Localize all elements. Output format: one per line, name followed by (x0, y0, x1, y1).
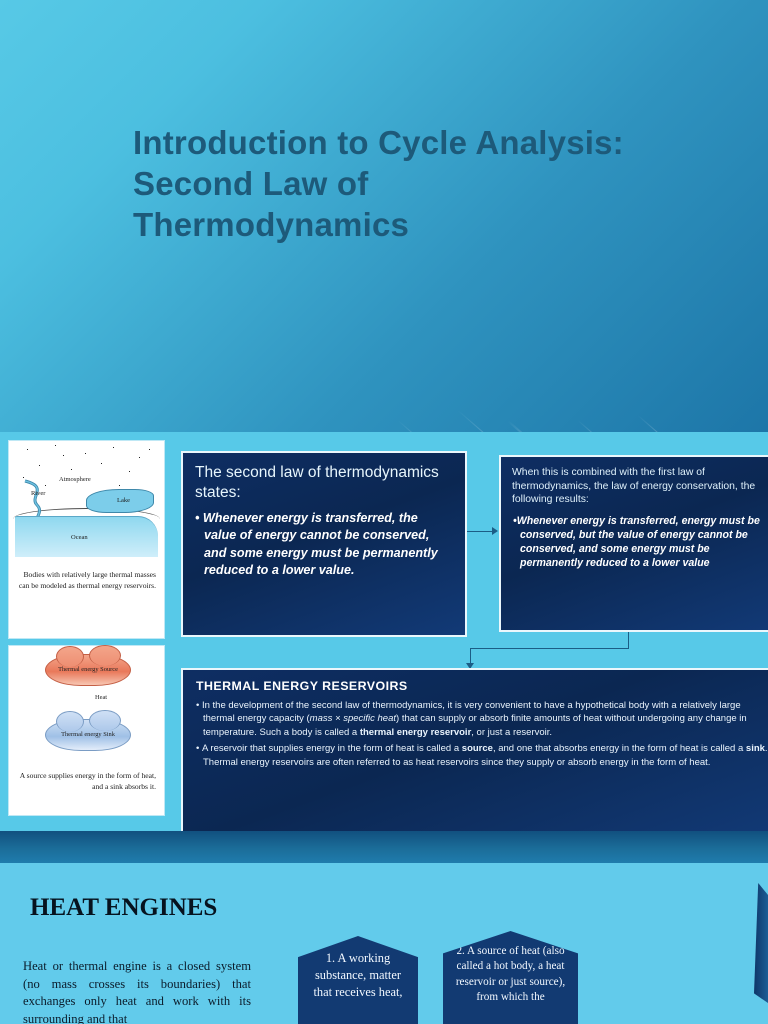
figure-source-sink-graphic: Thermal energy Source Heat Heat Thermal … (9, 646, 164, 764)
callout-second-law-bullet: • Whenever energy is transferred, the va… (195, 510, 453, 580)
callout-second-law: The second law of thermodynamics states:… (181, 451, 467, 637)
slide-2-second-law: Atmosphere River Lake Ocean Bodies with … (0, 432, 768, 863)
connector-b-to-c-horizontal (470, 648, 629, 649)
slide-3-right-decoration (754, 883, 768, 1003)
slide-3-title: HEAT ENGINES (30, 891, 240, 925)
connector-arrowhead-right (492, 527, 498, 535)
callout-combined-first-law: When this is combined with the first law… (499, 455, 768, 632)
slide-deck: Introduction to Cycle Analysis: Second L… (0, 0, 768, 1024)
label-lake: Lake (117, 497, 130, 504)
callout-second-law-heading: The second law of thermodynamics states: (195, 463, 453, 503)
callout-combined-bullet: •Whenever energy is transferred, energy … (512, 514, 768, 571)
slide-2-bottom-band (0, 831, 768, 863)
callout-thermal-energy-reservoirs: THERMAL ENERGY RESERVOIRS • In the devel… (181, 668, 768, 842)
figure-source-sink-caption: A source supplies energy in the form of … (9, 764, 164, 792)
figure-source-sink: Thermal energy Source Heat Heat Thermal … (8, 645, 165, 816)
thermal-energy-sink-cloud: Thermal energy Sink (45, 719, 131, 751)
thermal-energy-source-cloud: Thermal energy Source (45, 654, 131, 686)
figure-reservoirs-caption: Bodies with relatively large thermal mas… (9, 563, 164, 591)
page-title: Introduction to Cycle Analysis: Second L… (133, 122, 653, 245)
figure-reservoirs-graphic: Atmosphere River Lake Ocean (9, 441, 164, 563)
callout-reservoirs-heading: THERMAL ENERGY RESERVOIRS (196, 679, 768, 693)
callout-reservoirs-bullet-1: • In the development of the second law o… (195, 699, 768, 739)
label-river: River (31, 490, 45, 497)
label-ocean: Ocean (71, 534, 88, 541)
callout-reservoirs-bullet-2: • A reservoir that supplies energy in th… (195, 742, 768, 769)
slide-3-paragraph: Heat or thermal engine is a closed syste… (23, 958, 251, 1024)
figure-thermal-reservoirs: Atmosphere River Lake Ocean Bodies with … (8, 440, 165, 639)
heat-label-top: Heat (95, 694, 107, 701)
slide-1-title: Introduction to Cycle Analysis: Second L… (0, 0, 768, 432)
callout-combined-heading: When this is combined with the first law… (512, 466, 768, 507)
